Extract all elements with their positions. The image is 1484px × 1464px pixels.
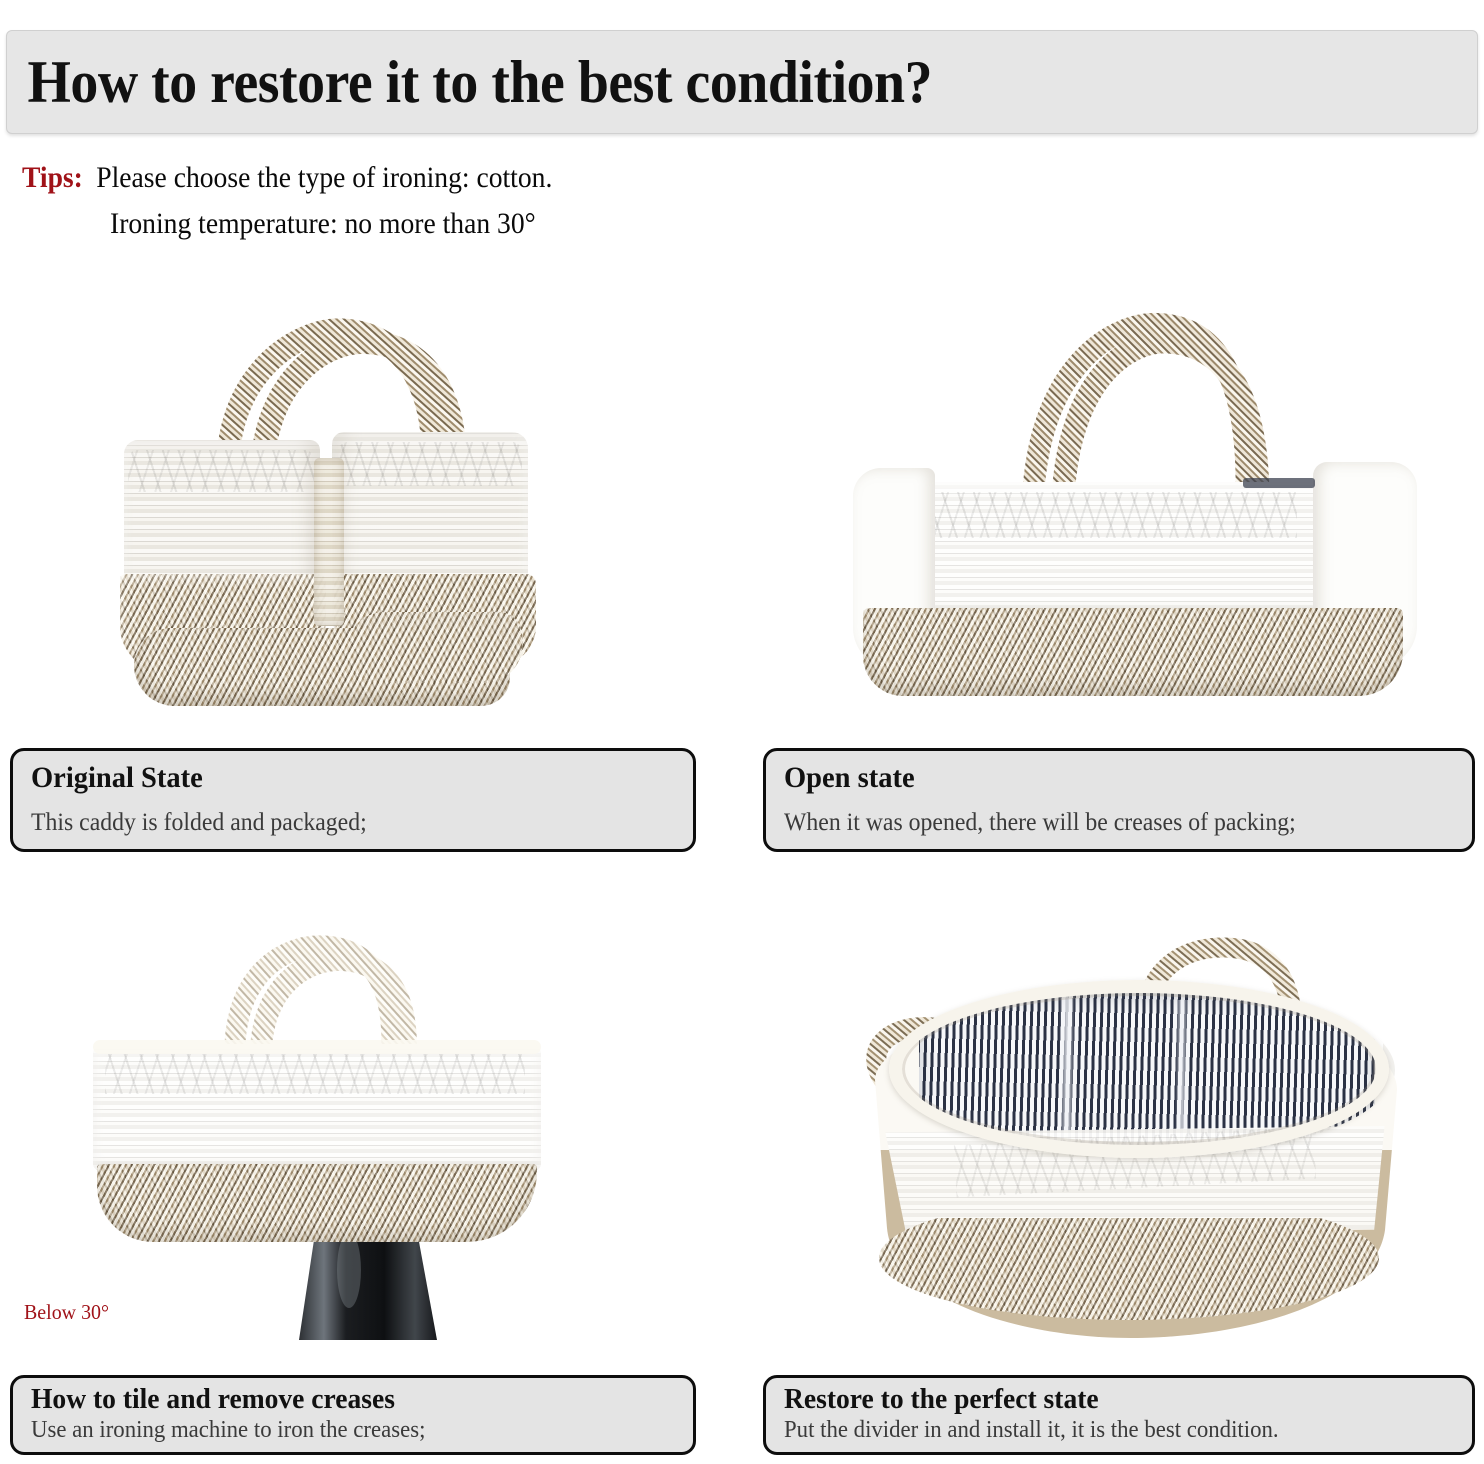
caddy-interior-shadow <box>1243 478 1315 488</box>
photo-tile-remove-creases <box>85 920 655 1340</box>
photo-open-state <box>845 282 1425 712</box>
caption-description: Use an ironing machine to iron the creas… <box>31 1417 660 1445</box>
instruction-infographic: How to restore it to the best condition?… <box>0 0 1484 1464</box>
caption-open-state: Open state When it was opened, there wil… <box>763 748 1475 852</box>
caddy-braid-band-ironing <box>105 1054 525 1094</box>
tips-line-1: Tips:Please choose the type of ironing: … <box>22 158 1022 198</box>
tips-section: Tips:Please choose the type of ironing: … <box>22 158 1022 244</box>
caption-title: Open state <box>784 761 1438 795</box>
tips-line-2: Ironing temperature: no more than 30° <box>22 204 1022 244</box>
caddy-tan-bottom-ironing <box>97 1164 537 1242</box>
below-temperature-note: Below 30° <box>24 1300 109 1325</box>
caption-tile-remove-creases: How to tile and remove creases Use an ir… <box>10 1375 696 1455</box>
caption-restore-perfect-state: Restore to the perfect state Put the div… <box>763 1375 1475 1455</box>
caddy-braid-band <box>893 492 1297 538</box>
photo-restored-state <box>845 930 1425 1350</box>
caddy-braid-left <box>128 450 314 492</box>
caption-description: Put the divider in and install it, it is… <box>784 1417 1438 1445</box>
caddy-tan-bottom <box>863 608 1403 696</box>
tips-text-ironing-type: Please choose the type of ironing: cotto… <box>88 158 552 198</box>
caption-title: How to tile and remove creases <box>31 1383 660 1415</box>
caddy-bottom-fold <box>346 612 522 682</box>
caption-description: This caddy is folded and packaged; <box>31 809 660 838</box>
caddy-rim-restored <box>889 980 1389 1158</box>
caption-title: Restore to the perfect state <box>784 1383 1438 1415</box>
page-title: How to restore it to the best condition? <box>7 52 932 112</box>
caddy-fold-spine <box>314 458 344 626</box>
photo-original-state <box>110 282 560 722</box>
tips-text-temperature: Ironing temperature: no more than 30° <box>110 204 536 244</box>
header-banner: How to restore it to the best condition? <box>6 30 1478 134</box>
caption-title: Original State <box>31 761 660 795</box>
caddy-braid-right <box>338 442 522 486</box>
caddy-rim-ironing <box>93 1040 541 1054</box>
caption-description: When it was opened, there will be crease… <box>784 809 1438 838</box>
caption-original-state: Original State This caddy is folded and … <box>10 748 696 852</box>
tips-label: Tips: <box>22 158 83 198</box>
